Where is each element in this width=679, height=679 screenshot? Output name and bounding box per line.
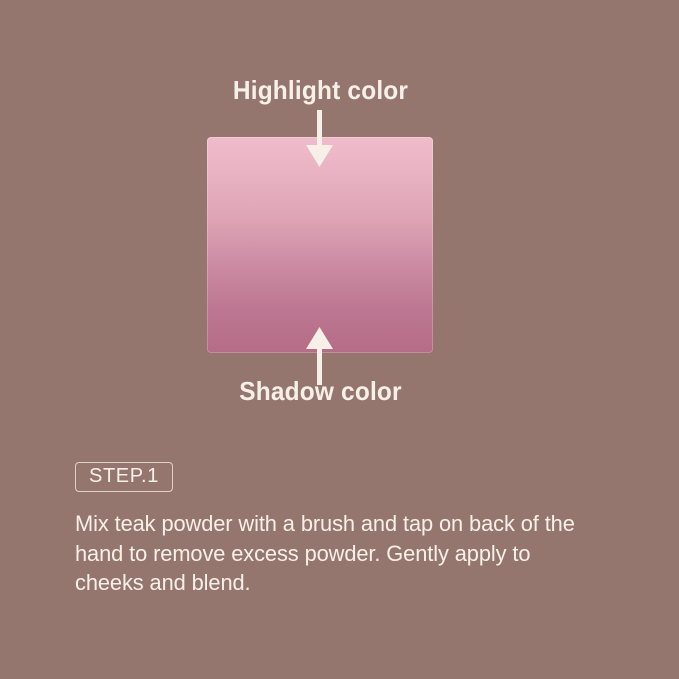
step-section: STEP.1 Mix teak powder with a brush and … [75,462,635,598]
arrow-down-icon [0,0,679,430]
step-badge: STEP.1 [75,462,173,492]
product-instruction-card: Highlight color Shadow color STEP.1 Mix … [0,0,679,679]
step-instructions: Mix teak powder with a brush and tap on … [75,509,604,598]
color-swatch-diagram: Highlight color Shadow color [0,0,679,430]
